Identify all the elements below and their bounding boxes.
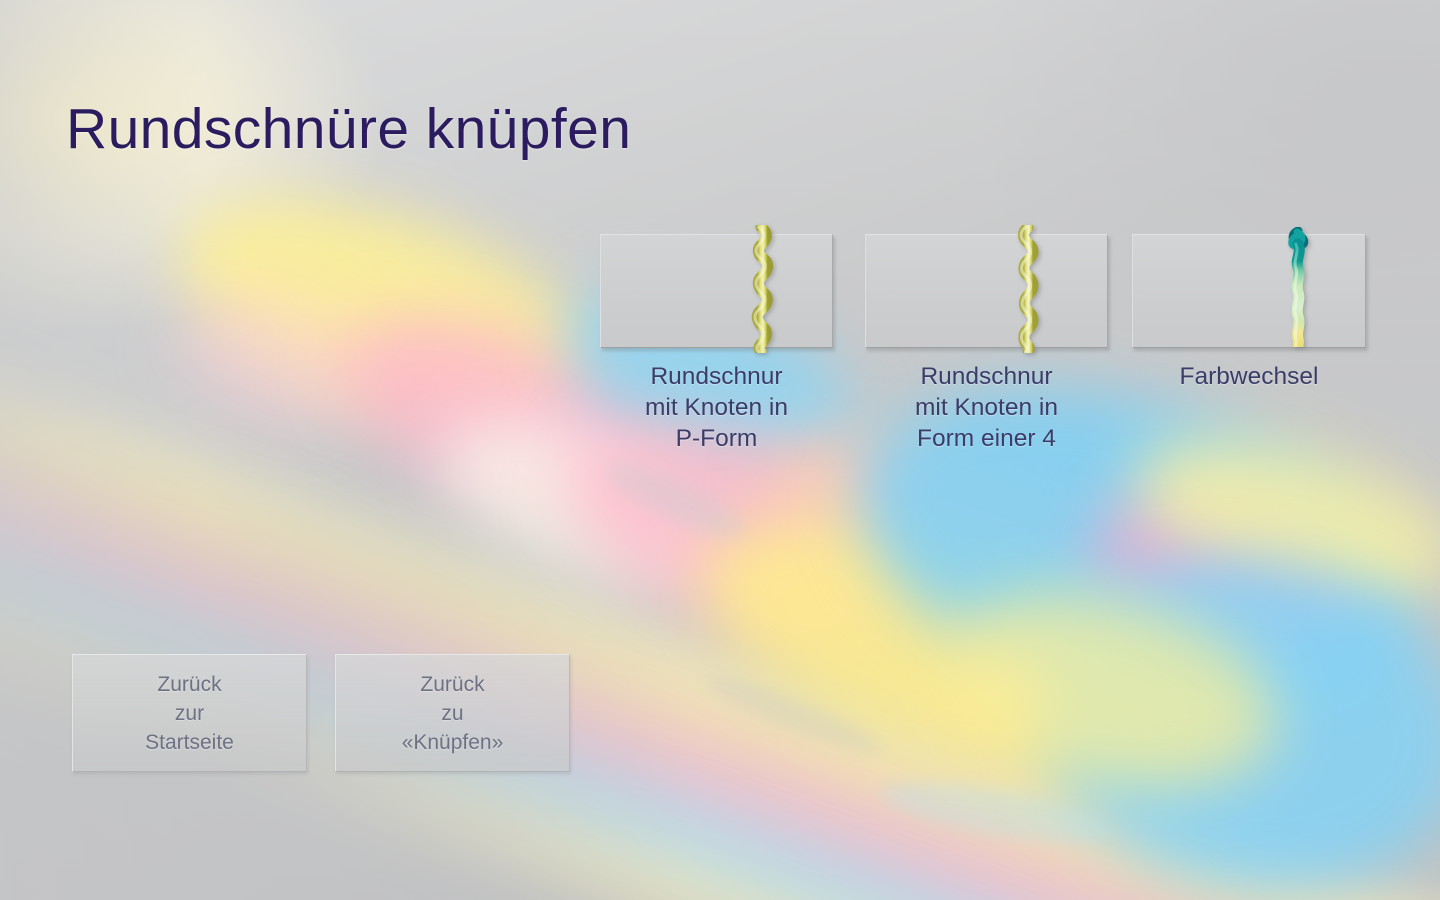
knot-card-list: Rundschnur mit Knoten in P-Form	[600, 234, 1366, 454]
page-title: Rundschnüre knüpfen	[66, 96, 631, 162]
card-caption: Farbwechsel	[1180, 361, 1319, 392]
card-caption: Rundschnur mit Knoten in Form einer 4	[915, 361, 1058, 454]
rope-strand-yellow	[670, 465, 1231, 830]
thumbnail-frame[interactable]	[865, 234, 1108, 348]
rope-fray-wisp	[878, 770, 1112, 854]
rope-fray-wisp	[599, 450, 752, 550]
back-to-knuepfen-button[interactable]: Zurück zu «Knüpfen»	[335, 654, 570, 772]
knotted-cord-figure-four-icon	[1014, 225, 1040, 353]
knotted-cord-p-form-icon	[749, 225, 775, 353]
rope-fray-wisp	[701, 666, 888, 765]
knot-card-farbwechsel[interactable]: Farbwechsel	[1132, 234, 1366, 392]
rope-strand-pink	[160, 267, 390, 453]
color-change-cord-icon	[1285, 227, 1311, 347]
thumbnail-frame[interactable]	[1132, 234, 1366, 348]
knot-card-form-einer-4[interactable]: Rundschnur mit Knoten in Form einer 4	[865, 234, 1108, 454]
knot-card-p-form[interactable]: Rundschnur mit Knoten in P-Form	[600, 234, 833, 454]
rope-strand-cyan	[1010, 519, 1440, 900]
thumbnail-frame[interactable]	[600, 234, 833, 348]
rope-strand-yellow	[151, 153, 619, 467]
rope-strand-pink	[1077, 471, 1374, 678]
navigation-button-group: Zurück zur Startseite Zurück zu «Knüpfen…	[72, 654, 598, 772]
card-caption: Rundschnur mit Knoten in P-Form	[645, 361, 788, 454]
presentation-slide: Rundschnüre knüpfen	[0, 0, 1440, 900]
back-to-home-button[interactable]: Zurück zur Startseite	[72, 654, 307, 772]
rope-strand-yellow	[923, 562, 1296, 819]
